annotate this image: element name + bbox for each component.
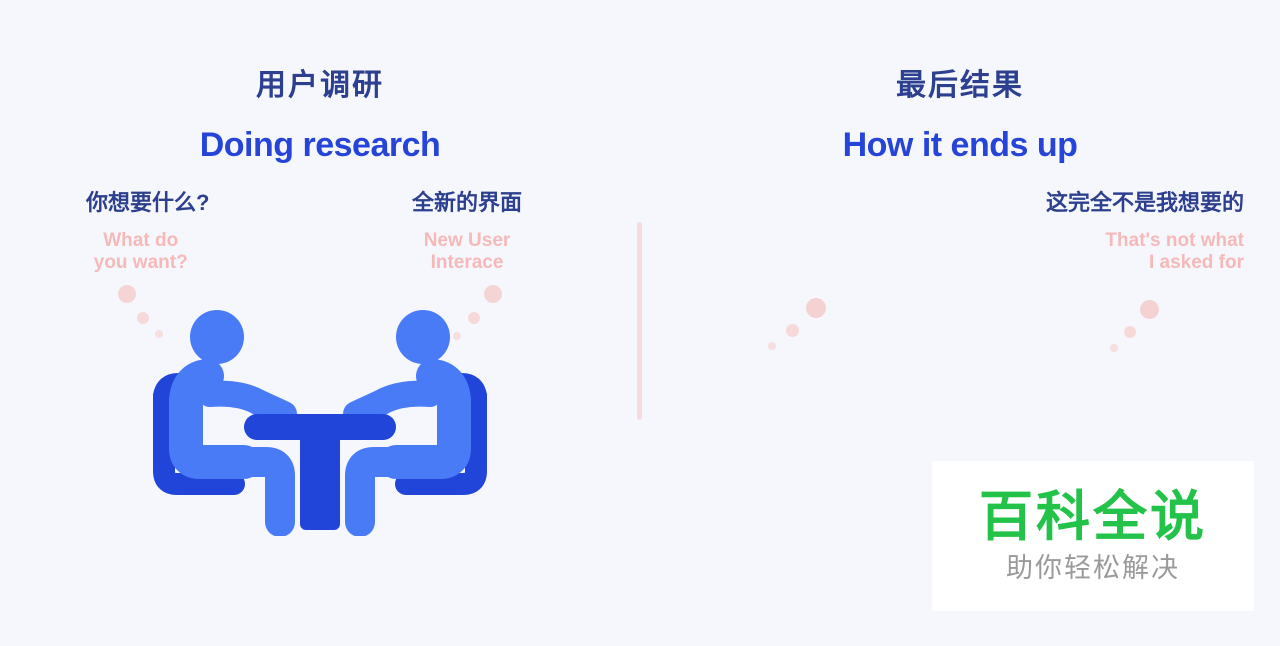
watermark-subtitle: 助你轻松解决 xyxy=(1006,554,1180,584)
right-heading-english: How it ends up xyxy=(640,125,1280,166)
left-heading-chinese: 用户调研 xyxy=(0,68,640,104)
infographic-canvas: 用户调研 Doing research 你想要什么? What do you w… xyxy=(0,0,1280,646)
caption-chinese: 这完全不是我想要的 xyxy=(1046,188,1244,218)
thought-bubble-dot xyxy=(768,342,776,350)
right-heading-chinese: 最后结果 xyxy=(640,68,1280,104)
left-heading-english: Doing research xyxy=(0,125,640,166)
caption-english-line1: What do xyxy=(86,230,195,252)
thought-bubble-dot xyxy=(118,285,136,303)
thought-bubble-dot xyxy=(786,324,799,337)
caption-english-line2: Interace xyxy=(412,252,522,274)
caption-english-line1: New User xyxy=(412,230,522,252)
caption-chinese: 全新的界面 xyxy=(412,188,522,218)
caption-english: What do you want? xyxy=(86,230,209,274)
caption-english: New User Interace xyxy=(412,230,522,274)
panel-doing-research: 用户调研 Doing research 你想要什么? What do you w… xyxy=(0,0,640,646)
illustration-two-people-at-table xyxy=(148,296,492,541)
left-caption-new-user-interface: 全新的界面 New User Interace xyxy=(412,188,522,273)
caption-english-line1: That's not what xyxy=(1046,230,1244,252)
thought-bubble-dot xyxy=(1124,326,1136,338)
thought-bubble-dot xyxy=(1140,300,1159,319)
thought-bubble-dot xyxy=(806,298,826,318)
thought-bubble-dot xyxy=(1110,344,1118,352)
caption-english-line2: I asked for xyxy=(1046,252,1244,274)
left-caption-what-do-you-want: 你想要什么? What do you want? xyxy=(86,188,209,273)
two-people-at-table-icon xyxy=(148,296,492,536)
watermark-badge: 百科全说 助你轻松解决 xyxy=(932,461,1254,611)
watermark-title: 百科全说 xyxy=(979,488,1207,546)
panel-divider xyxy=(637,222,642,420)
right-caption-thats-not-what-i-asked-for: 这完全不是我想要的 That's not what I asked for xyxy=(1046,188,1244,273)
caption-english: That's not what I asked for xyxy=(1046,230,1244,274)
caption-english-line2: you want? xyxy=(86,252,195,274)
caption-chinese: 你想要什么? xyxy=(86,188,209,218)
